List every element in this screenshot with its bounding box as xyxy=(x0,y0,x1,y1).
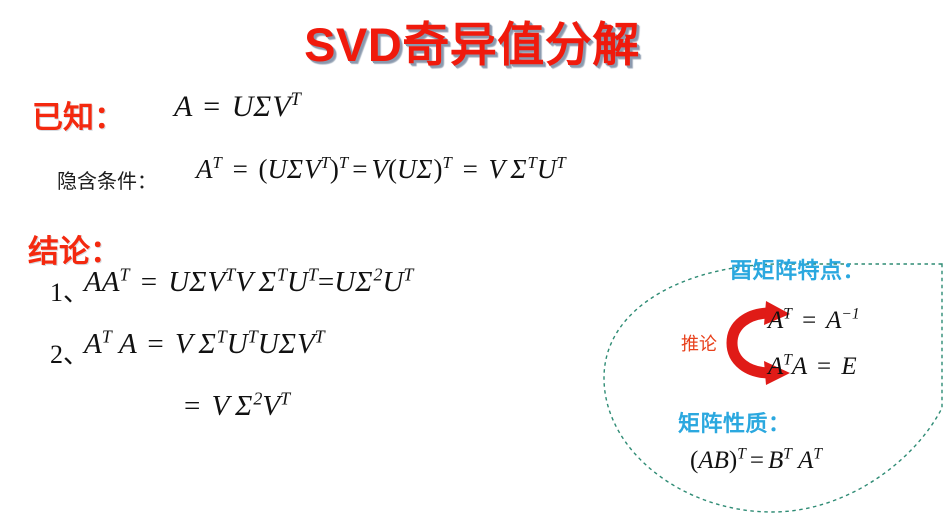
formula-implied-condition: AT = (UΣVT)T=V(UΣ)T = V ΣTUT xyxy=(196,156,566,183)
implied-condition-label: 隐含条件： xyxy=(57,165,157,194)
formula-given: A = UΣVT xyxy=(174,92,301,122)
conclusion-label: 结论： xyxy=(28,226,121,271)
unitary-heading: 酉矩阵特点： xyxy=(730,253,865,285)
formula-conclusion-2: AT A = V ΣTUTUΣVT xyxy=(84,330,325,359)
formula-matrix-property: (AB)T=BT AT xyxy=(690,448,822,473)
formula-conclusion-3: = V Σ2VT xyxy=(180,392,290,421)
formula-unitary-1: AT = A−1 xyxy=(768,308,860,333)
formula-unitary-2: ATA = E xyxy=(768,354,857,379)
page-title: SVD奇异值分解 xyxy=(0,6,944,75)
given-label: 已知： xyxy=(32,92,125,137)
inference-label: 推论 xyxy=(681,330,717,356)
formula-conclusion-1: AAT = UΣVTV ΣTUT=UΣ2UT xyxy=(84,268,413,297)
slide-canvas: SVD奇异值分解 已知： A = UΣVT 隐含条件： AT = (UΣVT)T… xyxy=(0,0,944,528)
matrix-property-heading: 矩阵性质： xyxy=(678,406,791,438)
